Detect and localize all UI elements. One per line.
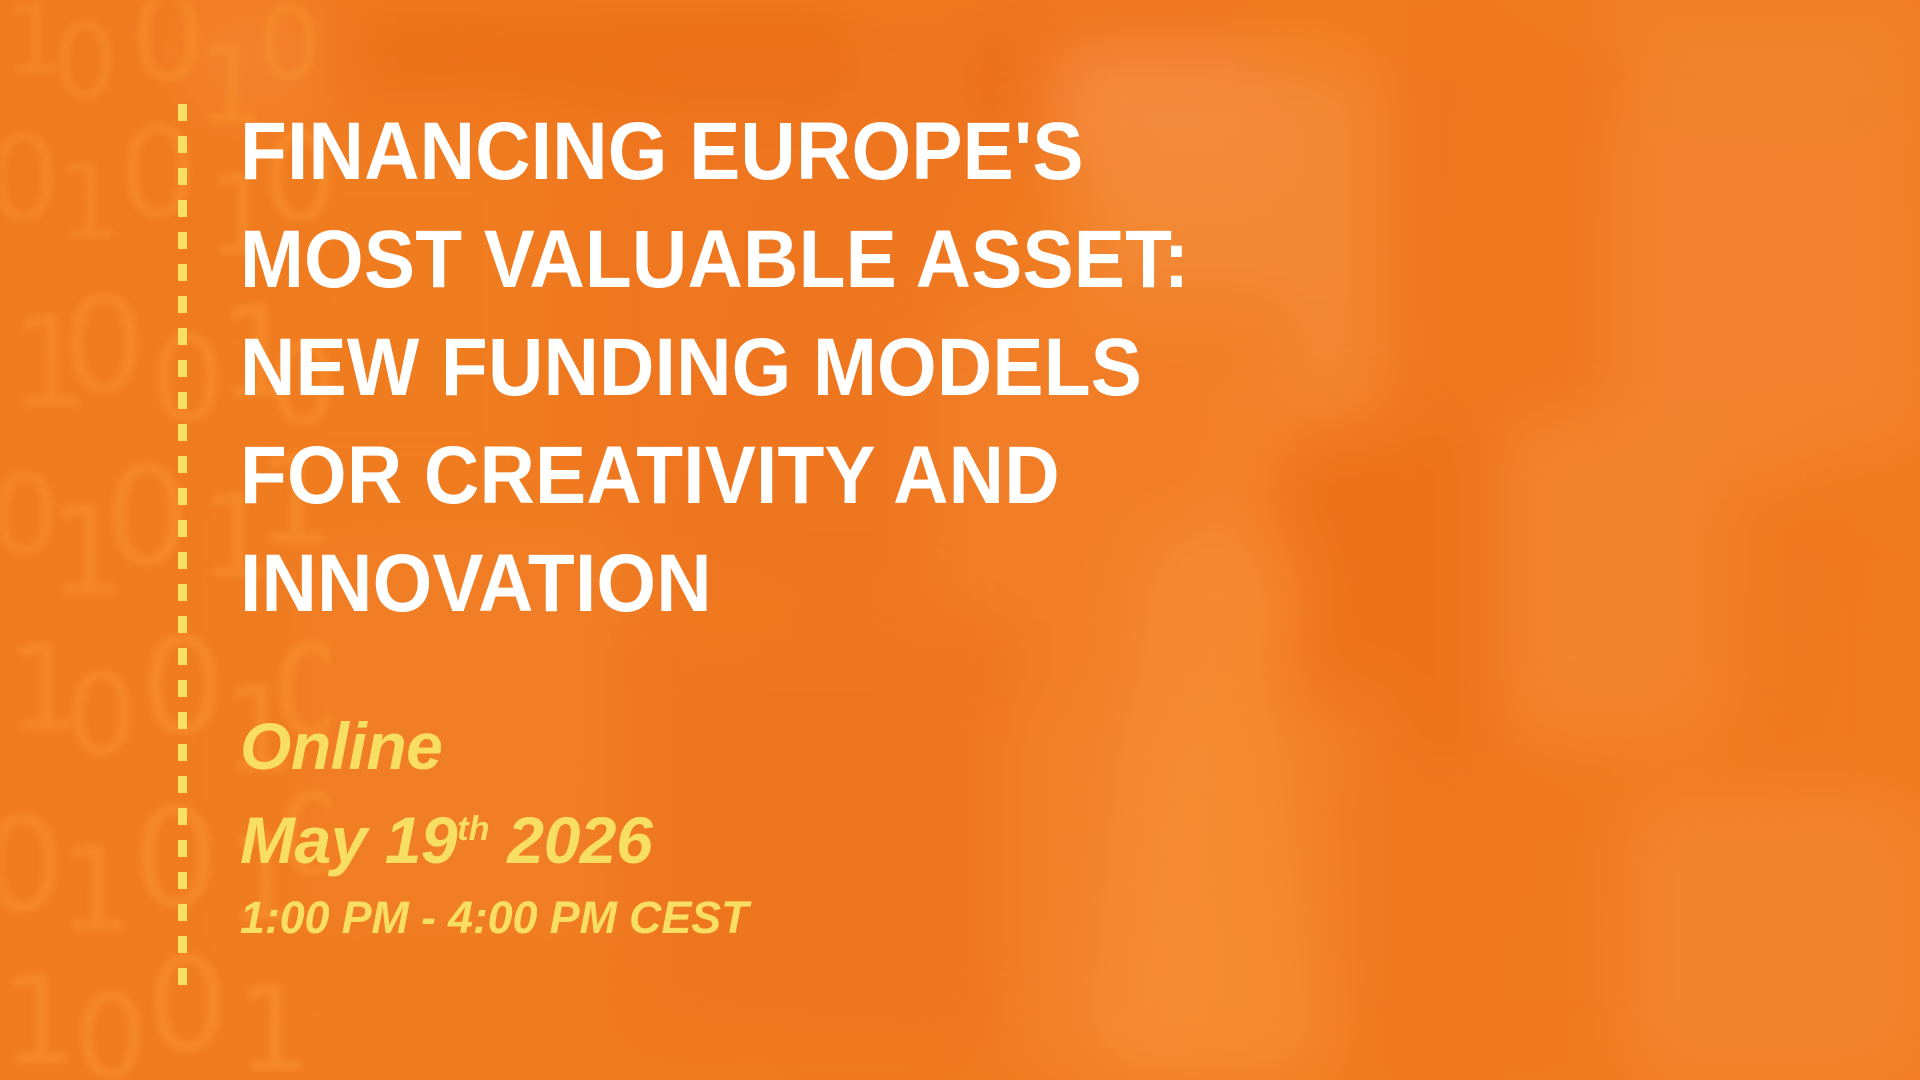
event-date-monthday: May 19: [240, 803, 457, 877]
event-date-ordinal: th: [457, 810, 489, 848]
event-date: May 19th 2026: [240, 792, 1440, 888]
event-location: Online: [240, 700, 1440, 792]
dashed-divider: [178, 104, 187, 994]
content-area: FINANCING EUROPE'S MOST VALUABLE ASSET: …: [240, 0, 1800, 1080]
page-title: FINANCING EUROPE'S MOST VALUABLE ASSET: …: [240, 98, 1671, 638]
event-banner: 1 0 0 1 0 0 1 0 1 0 1 0 0 1 0 0 1 0 1 1 …: [0, 0, 1920, 1080]
event-details: Online May 19th 2026 1:00 PM - 4:00 PM C…: [240, 700, 1440, 948]
event-date-year: 2026: [507, 803, 652, 877]
event-time: 1:00 PM - 4:00 PM CEST: [240, 888, 1440, 948]
